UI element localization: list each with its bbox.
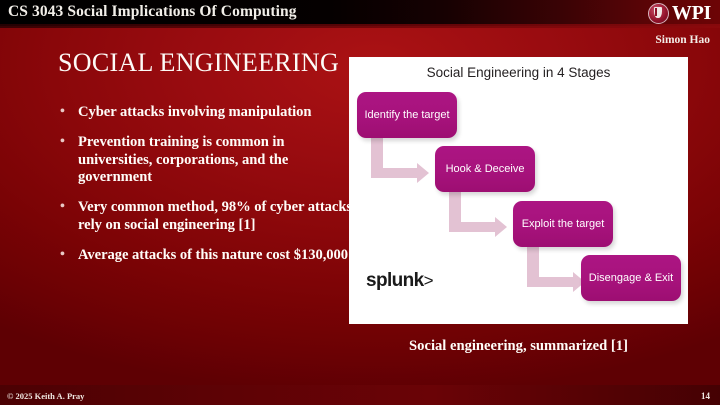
- diagram-stage-1: Identify the target: [357, 92, 457, 138]
- header-bar-glow: [0, 24, 720, 28]
- splunk-chevron-icon: >: [424, 271, 433, 290]
- list-item-label: Average attacks of this nature cost $130…: [78, 247, 348, 263]
- list-item: • Prevention training is common in unive…: [56, 134, 356, 187]
- footer-bar: [0, 385, 720, 405]
- splunk-logo: splunk>: [366, 270, 433, 292]
- diagram-stage-1-label: Identify the target: [365, 109, 450, 122]
- diagram-stage-2-label: Hook & Deceive: [446, 163, 525, 176]
- figure-caption: Social engineering, summarized [1]: [349, 338, 688, 355]
- list-item: • Cyber attacks involving manipulation: [56, 104, 356, 122]
- bullet-marker-icon: •: [60, 198, 65, 215]
- list-item: • Very common method, 98% of cyber attac…: [56, 199, 356, 235]
- diagram-stage-4: Disengage & Exit: [581, 255, 681, 301]
- page-title: SOCIAL ENGINEERING: [58, 48, 339, 78]
- wpi-logo: WPI: [648, 2, 711, 24]
- page-number: 14: [701, 391, 710, 401]
- list-item: • Average attacks of this nature cost $1…: [56, 247, 356, 265]
- copyright-notice: © 2025 Keith A. Pray: [7, 391, 84, 401]
- author-name: Simon Hao: [655, 34, 710, 46]
- course-title: CS 3043 Social Implications Of Computing: [8, 3, 297, 21]
- slide-canvas: CS 3043 Social Implications Of Computing…: [0, 0, 720, 405]
- wpi-seal-icon: [648, 3, 669, 24]
- bullet-marker-icon: •: [60, 246, 65, 263]
- diagram-stage-3: Exploit the target: [513, 201, 613, 247]
- splunk-logo-text: splunk: [366, 270, 424, 291]
- diagram-stage-2: Hook & Deceive: [435, 146, 535, 192]
- bullet-marker-icon: •: [60, 103, 65, 120]
- diagram-title: Social Engineering in 4 Stages: [349, 65, 688, 80]
- diagram-panel: Social Engineering in 4 Stages Identify …: [349, 57, 688, 324]
- diagram-stage-3-label: Exploit the target: [522, 218, 605, 231]
- bullet-marker-icon: •: [60, 133, 65, 150]
- list-item-label: Cyber attacks involving manipulation: [78, 104, 312, 120]
- diagram-stage-4-label: Disengage & Exit: [589, 272, 673, 285]
- bullet-list: • Cyber attacks involving manipulation •…: [56, 104, 356, 277]
- list-item-label: Prevention training is common in univers…: [78, 134, 288, 186]
- wpi-logo-text: WPI: [672, 3, 711, 23]
- list-item-label: Very common method, 98% of cyber attacks…: [78, 199, 352, 233]
